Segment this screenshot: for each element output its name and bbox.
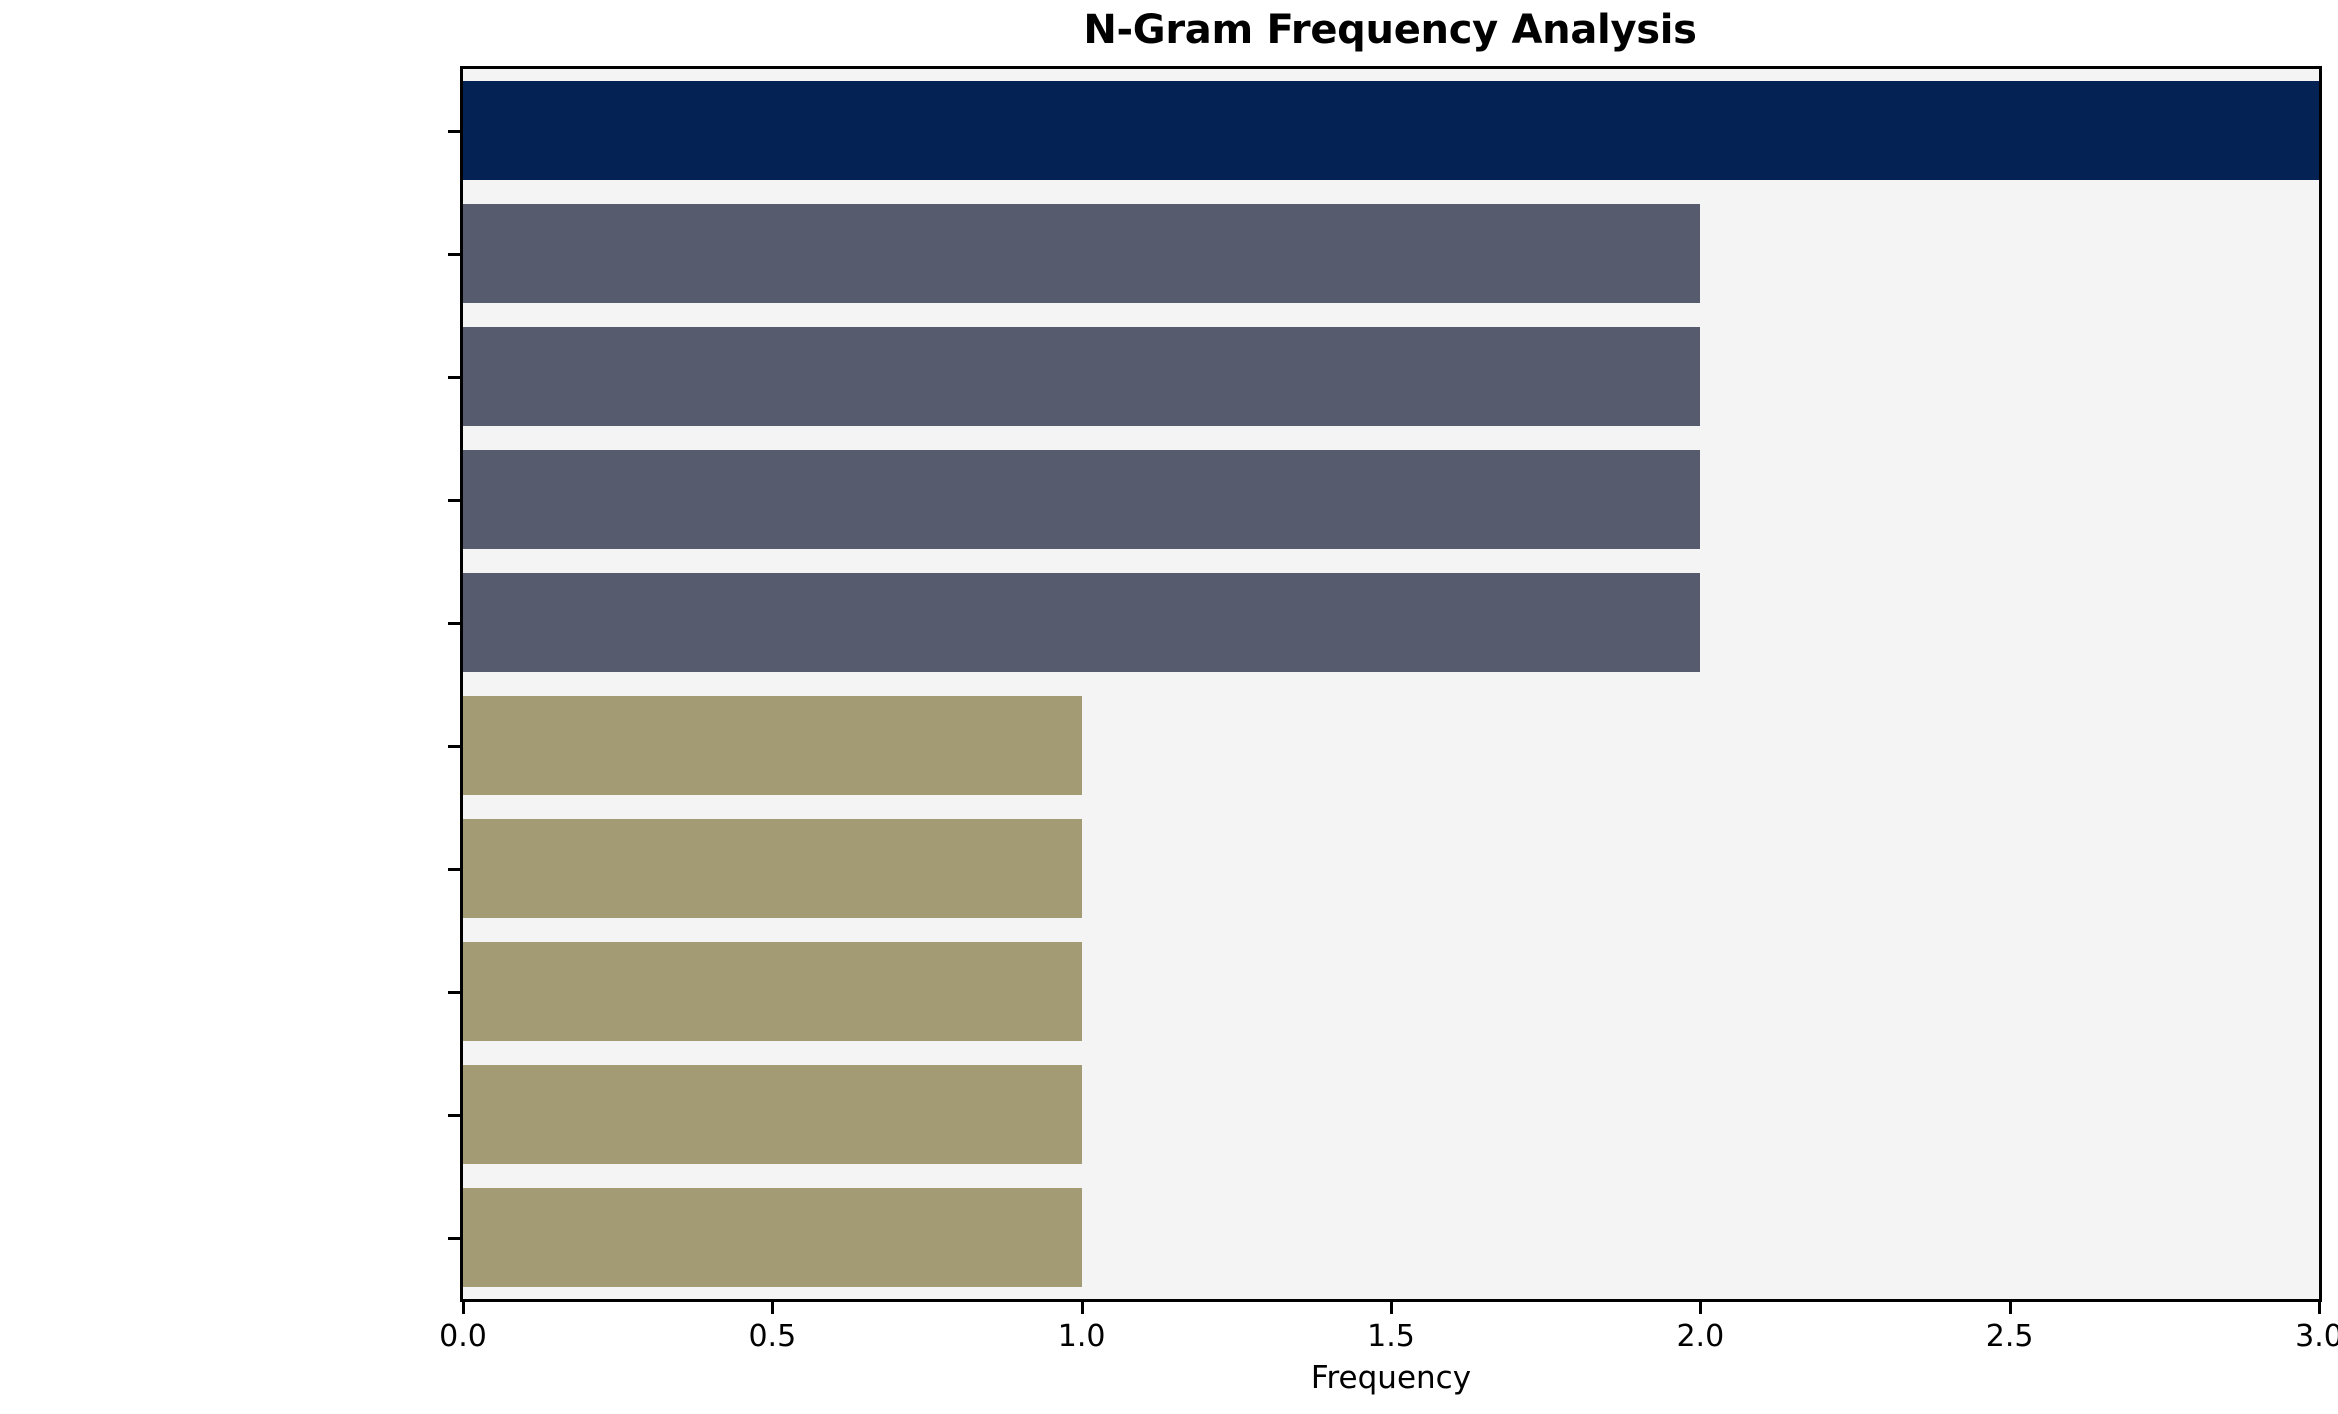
x-tick-label: 2.0 [1630,1322,1770,1352]
y-tick-mark [448,622,460,625]
bar-row [463,81,2319,179]
x-tick-mark [462,1302,465,1314]
bar[interactable] [463,573,1700,671]
y-tick-mark [448,130,460,133]
bar[interactable] [463,1065,1082,1163]
bar-row [463,942,2319,1040]
page-title: N-Gram Frequency Analysis [460,6,2320,54]
bar-row [463,819,2319,917]
y-tick-mark [448,376,460,379]
y-tick-mark [448,745,460,748]
bar-row [463,573,2319,671]
y-tick-mark [448,868,460,871]
bar[interactable] [463,696,1082,794]
x-tick-label: 3.0 [2249,1322,2338,1352]
x-tick-mark [1390,1302,1393,1314]
bar[interactable] [463,327,1700,425]
y-tick-mark [448,991,460,994]
bar[interactable] [463,942,1082,1040]
bar[interactable] [463,819,1082,917]
plot-inner [463,69,2319,1299]
bar-row [463,204,2319,302]
x-tick-label: 1.5 [1321,1322,1461,1352]
bar-row [463,1065,2319,1163]
x-tick-mark [2318,1302,2321,1314]
bar[interactable] [463,81,2319,179]
x-tick-mark [1699,1302,1702,1314]
bar-row [463,1188,2319,1286]
bar-row [463,450,2319,548]
bar-row [463,696,2319,794]
y-tick-mark [448,1114,460,1117]
x-tick-label: 2.5 [1940,1322,2080,1352]
x-tick-label: 0.5 [702,1322,842,1352]
chart-figure: N-Gram Frequency Analysis 0.00.51.01.52.… [0,0,2338,1414]
bar[interactable] [463,1188,1082,1286]
x-axis-label: Frequency [460,1360,2322,1396]
x-tick-label: 0.0 [393,1322,533,1352]
bar[interactable] [463,204,1700,302]
x-tick-mark [2009,1302,2012,1314]
bar[interactable] [463,450,1700,548]
y-tick-mark [448,499,460,502]
y-tick-mark [448,1237,460,1240]
bar-row [463,327,2319,425]
plot-area [460,66,2322,1302]
y-tick-mark [448,253,460,256]
x-tick-mark [1081,1302,1084,1314]
x-tick-mark [771,1302,774,1314]
x-tick-label: 1.0 [1012,1322,1152,1352]
